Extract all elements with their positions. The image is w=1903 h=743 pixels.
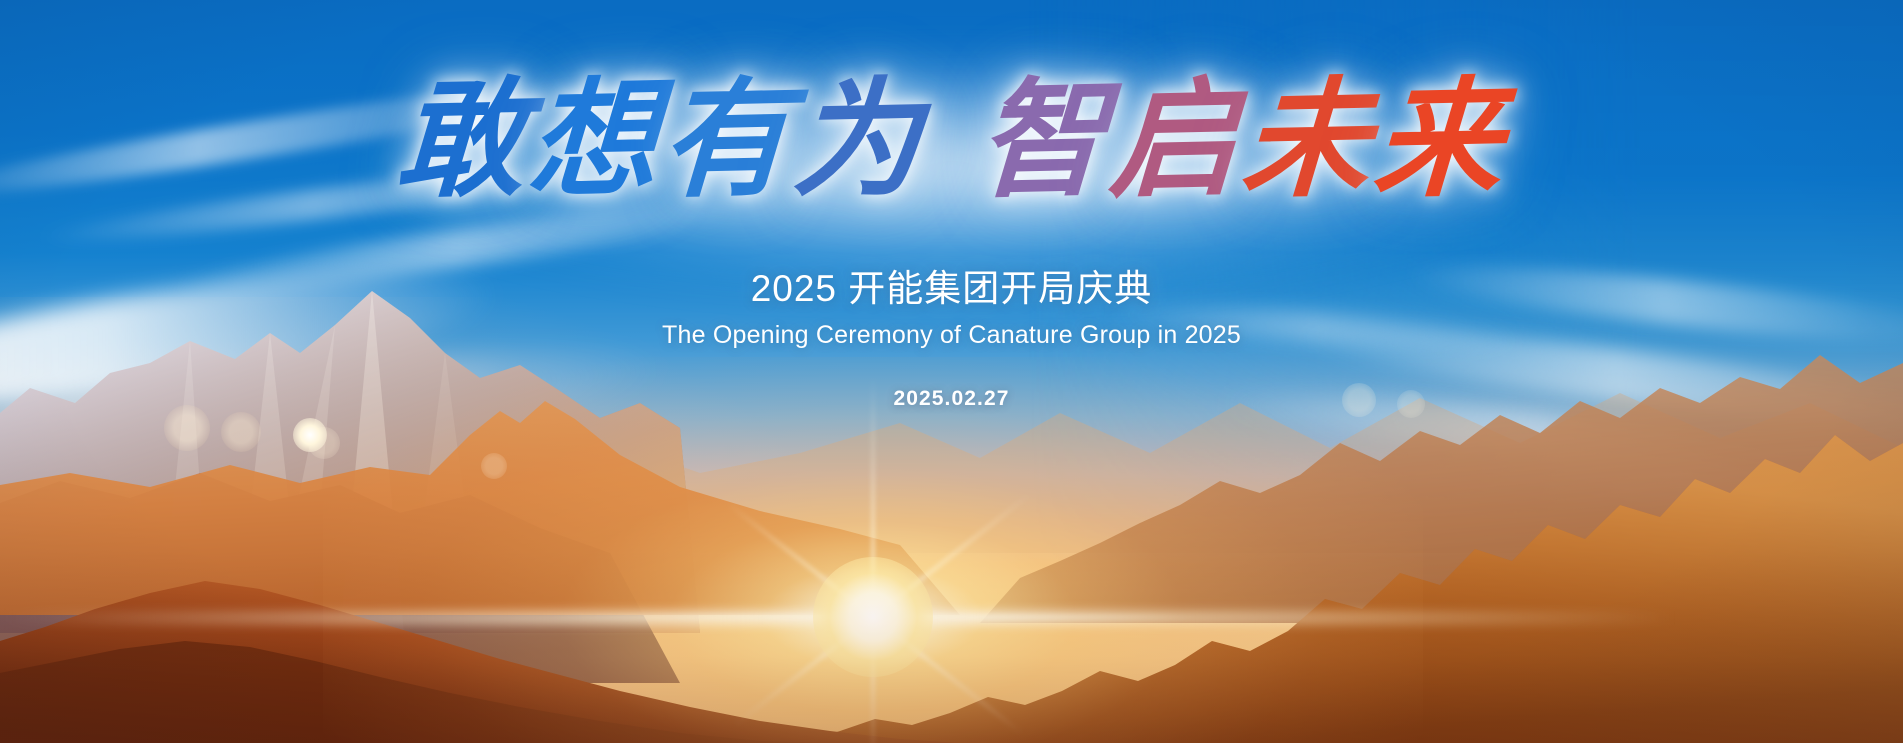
title-english: The Opening Ceremony of Canature Group i…: [0, 321, 1903, 350]
title-chinese: 2025 开能集团开局庆典: [0, 258, 1903, 312]
mountain-layer-left-near: [0, 523, 1903, 743]
banner-text-block: 2025 开能集团开局庆典 The Opening Ceremony of Ca…: [0, 258, 1903, 411]
event-date: 2025.02.27: [0, 387, 1903, 411]
event-banner: 敢想有为智启未来 2025 开能集团开局庆典 The Opening Cerem…: [0, 0, 1903, 743]
